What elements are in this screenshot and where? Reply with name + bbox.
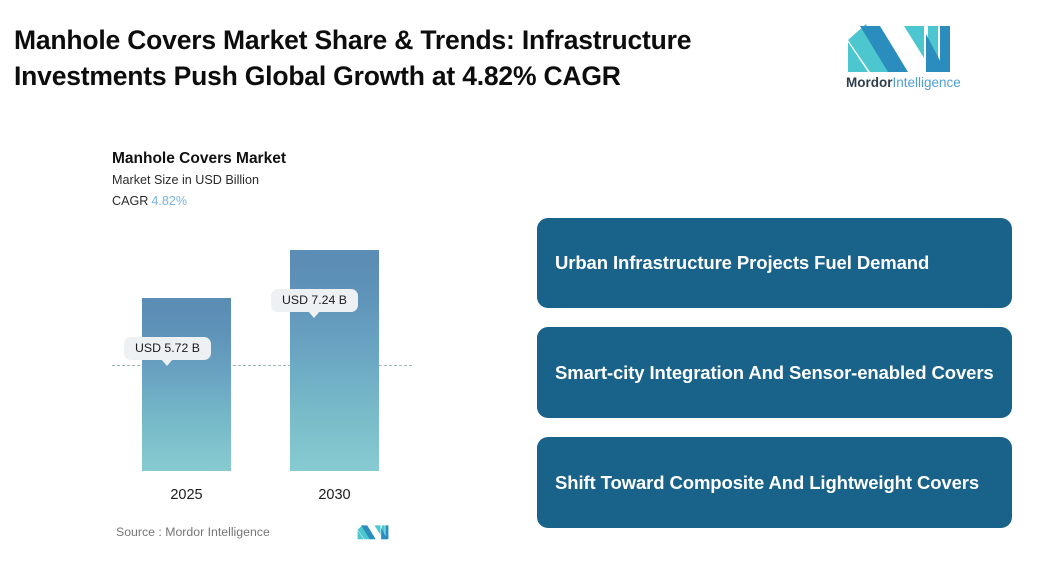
x-axis-tick-2025: 2025 — [142, 487, 231, 503]
bar-value-label-2025: USD 5.72 B — [124, 337, 211, 360]
brand-word-secondary: Intelligence — [893, 75, 961, 90]
mordor-intelligence-logo-mark-small — [357, 522, 389, 542]
chart-title: Manhole Covers Market — [112, 150, 286, 168]
mordor-intelligence-logo-mark — [846, 24, 952, 72]
insight-card-1[interactable]: Urban Infrastructure Projects Fuel Deman… — [537, 218, 1012, 308]
brand-word-primary: Mordor — [846, 75, 893, 90]
bar-2030[interactable] — [290, 250, 379, 471]
bar-value-label-2030: USD 7.24 B — [271, 289, 358, 312]
source-text: Source : Mordor Intelligence — [116, 525, 270, 539]
insight-card-3[interactable]: Shift Toward Composite And Lightweight C… — [537, 437, 1012, 528]
page-title: Manhole Covers Market Share & Trends: In… — [14, 22, 804, 94]
chart-source-row: Source : Mordor Intelligence — [112, 522, 432, 546]
x-axis-tick-2030: 2030 — [290, 487, 379, 503]
label-pointer-icon — [308, 311, 320, 318]
chart-plot-area: USD 5.72 B USD 7.24 B 2025 2030 — [108, 195, 428, 485]
insight-cards: Urban Infrastructure Projects Fuel Deman… — [537, 218, 1012, 547]
insight-card-1-text: Urban Infrastructure Projects Fuel Deman… — [555, 250, 929, 276]
page-header: Manhole Covers Market Share & Trends: In… — [0, 0, 1059, 118]
brand-logo: MordorIntelligence — [846, 24, 956, 96]
source-label: Source : — [116, 525, 162, 539]
chart-panel: Manhole Covers Market Market Size in USD… — [108, 140, 428, 550]
insight-card-2[interactable]: Smart-city Integration And Sensor-enable… — [537, 327, 1012, 418]
insight-card-3-text: Shift Toward Composite And Lightweight C… — [555, 470, 979, 496]
bar-value-text-2030: USD 7.24 B — [282, 293, 347, 307]
label-pointer-icon — [161, 359, 173, 366]
chart-subtitle: Market Size in USD Billion — [112, 173, 259, 187]
bar-2025[interactable] — [142, 298, 231, 471]
brand-wordmark: MordorIntelligence — [846, 74, 956, 91]
bar-value-text-2025: USD 5.72 B — [135, 341, 200, 355]
source-name: Mordor Intelligence — [165, 525, 270, 539]
insight-card-2-text: Smart-city Integration And Sensor-enable… — [555, 360, 994, 386]
